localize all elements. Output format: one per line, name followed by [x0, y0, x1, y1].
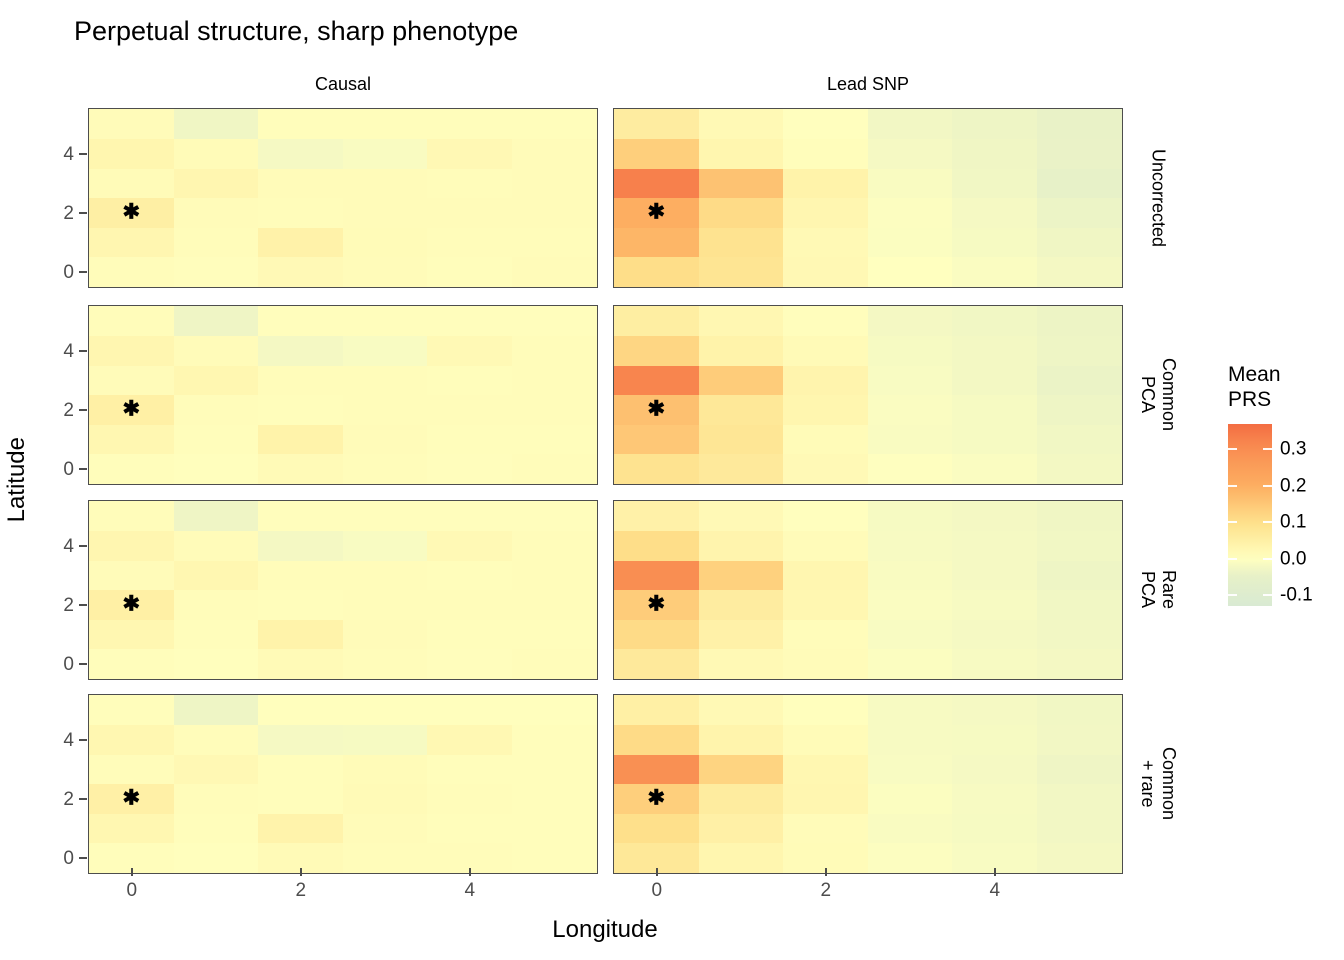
heatmap-cell [343, 531, 428, 561]
heatmap-cell [783, 454, 868, 484]
legend-tick-mark [1263, 594, 1272, 596]
legend-colorbar-wrap: 0.30.20.10.0-0.1 [1228, 424, 1272, 606]
x-tick-mark [994, 868, 996, 876]
x-tick-mark [469, 868, 471, 876]
heatmap-cell [343, 813, 428, 843]
heatmap-cell [174, 754, 259, 784]
heatmap-panel-causal-uncorrected: ✱ [88, 108, 598, 288]
heatmap-cell [614, 695, 699, 725]
legend-tick-label: 0.1 [1280, 513, 1306, 532]
heatmap-cell [699, 168, 784, 198]
heatmap-cell [258, 649, 343, 679]
heatmap-cell [512, 109, 597, 139]
heatmap-cell [258, 139, 343, 169]
facet-col-label-causal: Causal [88, 72, 598, 96]
heatmap-cell [427, 257, 512, 287]
heatmap-cell [258, 395, 343, 425]
heatmap-cell [343, 227, 428, 257]
heatmap-cell [614, 619, 699, 649]
heatmap-cell [89, 395, 174, 425]
heatmap-cell [783, 725, 868, 755]
heatmap-cell [1037, 813, 1122, 843]
heatmap-cell [952, 198, 1037, 228]
heatmap-cell [512, 306, 597, 336]
heatmap-cell [952, 306, 1037, 336]
heatmap-cell [614, 560, 699, 590]
x-tick-mark [656, 868, 658, 876]
heatmap-cell [512, 501, 597, 531]
heatmap-cell [174, 649, 259, 679]
heatmap-cell [89, 619, 174, 649]
y-tick-label: 0 [46, 655, 74, 674]
heatmap-cell [699, 695, 784, 725]
heatmap-cell [783, 813, 868, 843]
heatmap-cell [512, 754, 597, 784]
heatmap-cell [89, 454, 174, 484]
heatmap-cell [1037, 198, 1122, 228]
heatmap-cell [868, 109, 953, 139]
heatmap-cell [427, 649, 512, 679]
heatmap-cell [868, 843, 953, 873]
heatmap-panel-lead-snp-uncorrected: ✱ [613, 108, 1123, 288]
x-tick-label: 0 [126, 880, 137, 902]
x-tick-label: 2 [295, 880, 306, 902]
heatmap-cell [427, 168, 512, 198]
heatmap-cell [952, 109, 1037, 139]
legend-tick-label: 0.0 [1280, 549, 1306, 568]
heatmap-cell [783, 424, 868, 454]
heatmap-cell [868, 813, 953, 843]
heatmap-cell [868, 168, 953, 198]
heatmap-cell [174, 454, 259, 484]
heatmap-cell [1037, 424, 1122, 454]
x-tick-mark [300, 868, 302, 876]
heatmap-cell [783, 395, 868, 425]
heatmap-cell [614, 784, 699, 814]
heatmap-cell [699, 336, 784, 366]
heatmap-cell [512, 784, 597, 814]
heatmap-cell [343, 257, 428, 287]
facet-row-label-text: Common PCA [1137, 358, 1179, 431]
heatmap-cell [258, 754, 343, 784]
y-tick-label: 2 [46, 596, 74, 615]
heatmap-cell [868, 531, 953, 561]
heatmap-cell [89, 531, 174, 561]
legend-tick-mark [1263, 558, 1272, 560]
heatmap-cell [868, 336, 953, 366]
x-tick-label: 0 [651, 880, 662, 902]
heatmap-cell [427, 109, 512, 139]
heatmap-cell [512, 590, 597, 620]
heatmap-cell [783, 649, 868, 679]
heatmap-cell [427, 395, 512, 425]
heatmap-cell [174, 306, 259, 336]
heatmap-cell [699, 109, 784, 139]
heatmap-cell [89, 257, 174, 287]
heatmap-cell [952, 395, 1037, 425]
legend-tick-mark [1228, 594, 1237, 596]
heatmap-cell [868, 725, 953, 755]
heatmap-cell [699, 424, 784, 454]
heatmap-cell [868, 198, 953, 228]
heatmap-cell [868, 590, 953, 620]
heatmap-cell [89, 725, 174, 755]
heatmap-cell [174, 813, 259, 843]
heatmap-cell [89, 168, 174, 198]
heatmap-cell [512, 619, 597, 649]
heatmap-cell [343, 109, 428, 139]
heatmap-cell [1037, 306, 1122, 336]
y-tick-label: 0 [46, 849, 74, 868]
y-tick-mark [79, 468, 87, 470]
heatmap-cell [343, 560, 428, 590]
heatmap-cell [343, 336, 428, 366]
heatmap-cell [89, 365, 174, 395]
heatmap-cell [174, 365, 259, 395]
heatmap-cell [868, 560, 953, 590]
heatmap-cell [89, 227, 174, 257]
heatmap-cell [699, 257, 784, 287]
y-tick-mark [79, 857, 87, 859]
heatmap-cell [952, 784, 1037, 814]
heatmap-cell [614, 725, 699, 755]
heatmap-cell [699, 754, 784, 784]
heatmap-cell [783, 168, 868, 198]
heatmap-cell [699, 560, 784, 590]
heatmap-cell [614, 227, 699, 257]
heatmap-cell [258, 560, 343, 590]
heatmap-cell [258, 257, 343, 287]
heatmap-cell [868, 754, 953, 784]
legend-tick-mark [1263, 485, 1272, 487]
heatmap-cell [343, 501, 428, 531]
heatmap-panel-causal-common-pca: ✱ [88, 305, 598, 485]
heatmap-cell [89, 754, 174, 784]
y-tick-mark [79, 545, 87, 547]
heatmap-cell [783, 365, 868, 395]
heatmap-cell [952, 227, 1037, 257]
heatmap-cell [512, 725, 597, 755]
heatmap-cell [174, 198, 259, 228]
y-tick-mark [79, 153, 87, 155]
heatmap-cell [1037, 725, 1122, 755]
heatmap-cell [427, 725, 512, 755]
heatmap-cells: ✱ [89, 109, 597, 287]
heatmap-cell [1037, 395, 1122, 425]
x-axis-title: Longitude [0, 916, 1210, 944]
heatmap-cell [343, 306, 428, 336]
heatmap-cell [614, 754, 699, 784]
heatmap-cell [343, 424, 428, 454]
heatmap-cell [258, 336, 343, 366]
heatmap-cell [174, 395, 259, 425]
legend-tick-mark [1263, 521, 1272, 523]
heatmap-cell [783, 336, 868, 366]
heatmap-cell [783, 198, 868, 228]
heatmap-cell [89, 649, 174, 679]
heatmap-cell [868, 395, 953, 425]
heatmap-cell [614, 424, 699, 454]
heatmap-cell [512, 139, 597, 169]
heatmap-cell [614, 395, 699, 425]
heatmap-panel-causal-common-rare: ✱ [88, 694, 598, 874]
heatmap-cell [343, 139, 428, 169]
heatmap-cell [1037, 365, 1122, 395]
x-tick-mark [825, 868, 827, 876]
facet-row-label-rare-pca: Rare PCA [1128, 500, 1188, 680]
heatmap-cell [614, 109, 699, 139]
heatmap-cell [614, 168, 699, 198]
heatmap-cell [427, 560, 512, 590]
y-tick-mark [79, 212, 87, 214]
heatmap-cell [952, 336, 1037, 366]
heatmap-cell [174, 531, 259, 561]
y-tick-label: 0 [46, 460, 74, 479]
heatmap-cell [614, 454, 699, 484]
heatmap-cell [427, 198, 512, 228]
y-tick-mark [79, 798, 87, 800]
heatmap-cell [1037, 560, 1122, 590]
y-tick-label: 0 [46, 263, 74, 282]
heatmap-cell [89, 813, 174, 843]
heatmap-cell [952, 424, 1037, 454]
heatmap-cell [343, 784, 428, 814]
legend-tick-label: 0.2 [1280, 476, 1306, 495]
x-tick-mark [131, 868, 133, 876]
heatmap-cell [512, 365, 597, 395]
heatmap-cell [952, 257, 1037, 287]
heatmap-cell [952, 560, 1037, 590]
heatmap-cell [89, 695, 174, 725]
heatmap-cell [783, 619, 868, 649]
heatmap-cell [783, 501, 868, 531]
facet-row-label-common-pca: Common PCA [1128, 305, 1188, 485]
heatmap-cell [258, 725, 343, 755]
legend-tick-mark [1228, 521, 1237, 523]
heatmap-cell [1037, 843, 1122, 873]
heatmap-cell [868, 695, 953, 725]
heatmap-cell [174, 501, 259, 531]
facet-col-label-lead-snp: Lead SNP [613, 72, 1123, 96]
heatmap-cell [699, 454, 784, 484]
legend-colorbar [1228, 424, 1272, 606]
heatmap-cell [1037, 649, 1122, 679]
heatmap-cell [512, 424, 597, 454]
heatmap-cell [427, 501, 512, 531]
heatmap-cell [699, 843, 784, 873]
heatmap-cell [258, 619, 343, 649]
heatmap-cell [699, 395, 784, 425]
heatmap-cell [868, 306, 953, 336]
heatmap-cell [783, 109, 868, 139]
heatmap-cell [1037, 168, 1122, 198]
heatmap-cell [1037, 139, 1122, 169]
heatmap-cell [614, 306, 699, 336]
heatmap-cell [512, 649, 597, 679]
heatmap-cell [427, 139, 512, 169]
heatmap-cell [952, 619, 1037, 649]
heatmap-cell [174, 843, 259, 873]
heatmap-cell [258, 198, 343, 228]
heatmap-cell [427, 695, 512, 725]
heatmap-cell [783, 560, 868, 590]
heatmap-cell [952, 454, 1037, 484]
y-tick-label: 4 [46, 537, 74, 556]
facet-row-label-common-rare: Common + rare [1128, 694, 1188, 874]
heatmap-cell [952, 590, 1037, 620]
heatmap-cell [258, 784, 343, 814]
heatmap-cell [783, 695, 868, 725]
heatmap-cell [868, 784, 953, 814]
y-tick-mark [79, 604, 87, 606]
heatmap-cells: ✱ [614, 306, 1122, 484]
y-tick-mark [79, 739, 87, 741]
heatmap-cell [699, 198, 784, 228]
heatmap-cell [427, 365, 512, 395]
heatmap-panel-causal-rare-pca: ✱ [88, 500, 598, 680]
heatmap-cell [1037, 619, 1122, 649]
heatmap-panel-lead-snp-rare-pca: ✱ [613, 500, 1123, 680]
heatmap-cell [258, 454, 343, 484]
heatmap-cell [1037, 754, 1122, 784]
y-tick-label: 4 [46, 731, 74, 750]
heatmap-cell [1037, 227, 1122, 257]
heatmap-cell [427, 424, 512, 454]
y-tick-label: 4 [46, 342, 74, 361]
legend-tick-label: 0.3 [1280, 440, 1306, 459]
legend-title: Mean PRS [1228, 362, 1281, 412]
x-tick-label: 2 [820, 880, 831, 902]
facet-row-label-uncorrected: Uncorrected [1128, 108, 1188, 288]
heatmap-cell [427, 454, 512, 484]
heatmap-cell [427, 227, 512, 257]
heatmap-cell [699, 649, 784, 679]
heatmap-cell [952, 695, 1037, 725]
legend-tick-mark [1228, 485, 1237, 487]
heatmap-cell [868, 227, 953, 257]
heatmap-cell [343, 365, 428, 395]
heatmap-cell [1037, 501, 1122, 531]
heatmap-cell [1037, 454, 1122, 484]
heatmap-cell [868, 257, 953, 287]
legend: Mean PRS 0.30.20.10.0-0.1 [1228, 362, 1281, 606]
heatmap-cell [174, 695, 259, 725]
heatmap-cell [512, 227, 597, 257]
heatmap-panel-lead-snp-common-pca: ✱ [613, 305, 1123, 485]
heatmap-cell [783, 784, 868, 814]
heatmap-cell [427, 754, 512, 784]
heatmap-cells: ✱ [614, 695, 1122, 873]
y-tick-label: 2 [46, 790, 74, 809]
page-title: Perpetual structure, sharp phenotype [74, 14, 518, 48]
heatmap-cell [258, 365, 343, 395]
heatmap-cells: ✱ [89, 695, 597, 873]
heatmap-cell [343, 649, 428, 679]
heatmap-cell [783, 590, 868, 620]
heatmap-cell [512, 695, 597, 725]
heatmap-cell [512, 336, 597, 366]
heatmap-cell [1037, 695, 1122, 725]
heatmap-cell [614, 198, 699, 228]
x-tick-label: 4 [989, 880, 1000, 902]
heatmap-cell [952, 813, 1037, 843]
heatmap-cell [343, 454, 428, 484]
heatmap-cell [868, 649, 953, 679]
heatmap-cell [89, 560, 174, 590]
heatmap-cell [258, 501, 343, 531]
heatmap-cell [343, 619, 428, 649]
y-axis-title-text: Latitude [3, 437, 31, 522]
heatmap-cell [343, 754, 428, 784]
heatmap-cell [343, 843, 428, 873]
heatmap-cell [952, 725, 1037, 755]
heatmap-cell [174, 336, 259, 366]
heatmap-cell [174, 227, 259, 257]
heatmap-cell [868, 365, 953, 395]
heatmap-cell [174, 560, 259, 590]
heatmap-cell [427, 813, 512, 843]
heatmap-cells: ✱ [614, 501, 1122, 679]
heatmap-cell [343, 168, 428, 198]
heatmap-cell [89, 501, 174, 531]
heatmap-cell [258, 695, 343, 725]
heatmap-cell [1037, 784, 1122, 814]
heatmap-cell [174, 139, 259, 169]
heatmap-cell [512, 813, 597, 843]
heatmap-cell [614, 590, 699, 620]
y-axis-title: Latitude [2, 0, 32, 960]
heatmap-cell [1037, 590, 1122, 620]
heatmap-cell [868, 501, 953, 531]
heatmap-cell [174, 619, 259, 649]
legend-tick-mark [1228, 448, 1237, 450]
heatmap-cell [614, 813, 699, 843]
heatmap-cell [699, 306, 784, 336]
heatmap-cell [427, 336, 512, 366]
heatmap-cell [699, 813, 784, 843]
heatmap-cell [512, 843, 597, 873]
heatmap-cell [258, 531, 343, 561]
heatmap-cell [258, 813, 343, 843]
heatmap-cell [699, 227, 784, 257]
heatmap-cell [512, 454, 597, 484]
y-tick-mark [79, 350, 87, 352]
heatmap-cell [952, 649, 1037, 679]
heatmap-cell [89, 198, 174, 228]
heatmap-cell [699, 784, 784, 814]
heatmap-cell [258, 590, 343, 620]
heatmap-cell [258, 424, 343, 454]
heatmap-cell [89, 784, 174, 814]
heatmap-cell [343, 590, 428, 620]
heatmap-cell [174, 784, 259, 814]
heatmap-cell [783, 257, 868, 287]
facet-row-label-text: Common + rare [1137, 747, 1179, 820]
heatmap-cell [1037, 531, 1122, 561]
heatmap-cell [783, 306, 868, 336]
heatmap-cell [174, 725, 259, 755]
y-tick-mark [79, 409, 87, 411]
heatmap-cell [699, 501, 784, 531]
heatmap-cell [343, 198, 428, 228]
heatmap-cell [614, 336, 699, 366]
heatmap-cell [174, 590, 259, 620]
heatmap-cell [174, 424, 259, 454]
legend-tick-label: -0.1 [1280, 586, 1313, 605]
y-tick-mark [79, 271, 87, 273]
heatmap-cell [952, 501, 1037, 531]
legend-tick-mark [1228, 558, 1237, 560]
